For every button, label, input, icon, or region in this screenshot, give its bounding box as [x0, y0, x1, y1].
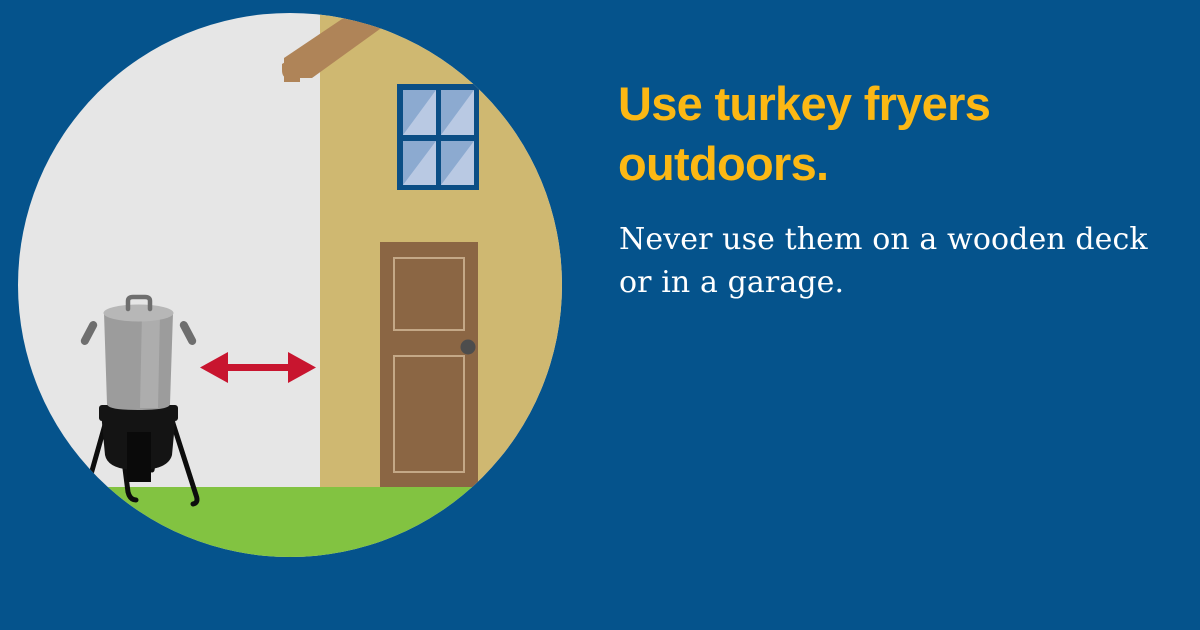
window-pane-bottom-left	[403, 141, 436, 185]
grass-ground	[0, 487, 600, 630]
text-panel: Use turkey fryers outdoors. Never use th…	[618, 0, 1178, 630]
house-door	[380, 242, 478, 487]
window-pane-top-right	[441, 90, 474, 135]
poster-subtext: Never use them on a wooden deck or in a …	[619, 218, 1164, 304]
fryer-pot-body	[104, 313, 173, 410]
illustration-panel	[0, 0, 600, 630]
fryer-lid	[104, 305, 174, 322]
fryer-control-box	[127, 432, 151, 482]
window-pane-bottom-right	[441, 141, 474, 185]
poster-headline: Use turkey fryers outdoors.	[618, 74, 1138, 194]
doorknob-icon	[461, 340, 476, 355]
fryer-pot-highlight	[140, 313, 160, 408]
house-window	[397, 84, 479, 190]
safety-poster: Use turkey fryers outdoors. Never use th…	[0, 0, 1200, 630]
turkey-fryer-scene	[0, 0, 600, 630]
window-pane-top-left	[403, 90, 436, 135]
